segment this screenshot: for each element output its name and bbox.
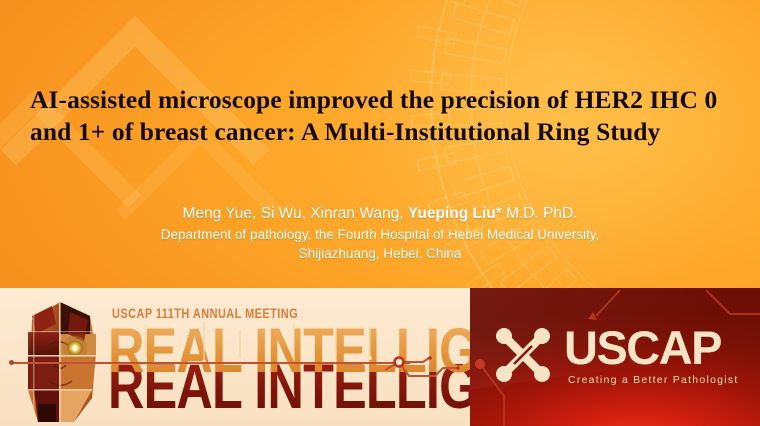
author-names-pre: Meng Yue, Si Wu, Xinran Wang, bbox=[182, 205, 407, 222]
author-names: Meng Yue, Si Wu, Xinran Wang, Yueping Li… bbox=[30, 203, 730, 225]
presentation-title-slide: AI-assisted microscope improved the prec… bbox=[0, 0, 760, 426]
circuit-trace-decoration bbox=[385, 346, 470, 392]
uscap-x-node-mark bbox=[492, 324, 554, 386]
banner-left-panel: USCAP 111TH ANNUAL MEETING REAL INTELLIG… bbox=[0, 288, 470, 426]
author-block: Meng Yue, Si Wu, Xinran Wang, Yueping Li… bbox=[30, 203, 730, 263]
corresponding-author: Yueping Liu* bbox=[408, 205, 502, 222]
theme-strike-line bbox=[12, 362, 410, 364]
uscap-wordmark: USCAP bbox=[564, 324, 721, 371]
bottom-banner: USCAP 111TH ANNUAL MEETING REAL INTELLIG… bbox=[0, 288, 760, 426]
uscap-logo: USCAP Creating a Better Pathologist bbox=[492, 324, 554, 391]
slide-title: AI-assisted microscope improved the prec… bbox=[30, 84, 730, 148]
theme-line-endpoint-dot bbox=[9, 360, 14, 365]
affiliation-line-2: Shijiazhuang, Hebei, China bbox=[30, 244, 730, 263]
banner-right-panel: USCAP Creating a Better Pathologist bbox=[470, 288, 760, 426]
author-degrees: M.D. PhD. bbox=[502, 205, 578, 222]
affiliation-line-1: Department of pathology, the Fourth Hosp… bbox=[30, 225, 730, 244]
fragmented-ai-face-illustration bbox=[12, 294, 108, 426]
uscap-tagline: Creating a Better Pathologist bbox=[568, 374, 739, 386]
